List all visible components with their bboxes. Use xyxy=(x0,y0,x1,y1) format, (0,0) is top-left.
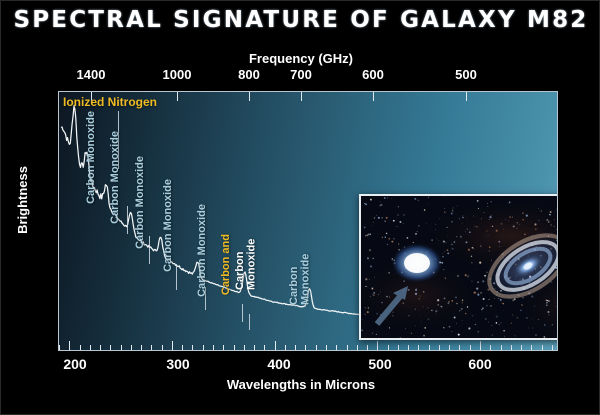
label-leader-line xyxy=(149,236,150,264)
wavelength-tick-200: 200 xyxy=(63,356,86,372)
plot-bottom-tick-major xyxy=(172,341,173,350)
plot-bottom-tick-minor xyxy=(182,345,183,350)
wavelength-tick-600: 600 xyxy=(468,356,491,372)
plot-bottom-tick-minor xyxy=(121,345,122,350)
spectral-line-label: Carbon Monoxide xyxy=(86,111,98,204)
plot-bottom-tick-minor xyxy=(552,345,553,350)
plot-bottom-tick-minor xyxy=(305,345,306,350)
plot-bottom-tick-major xyxy=(275,341,276,350)
plot-bottom-tick-minor xyxy=(59,345,60,350)
plot-bottom-tick-minor xyxy=(357,345,358,350)
spectral-line-label: Carbon Monoxide xyxy=(197,204,209,297)
wavelength-tick-300: 300 xyxy=(166,356,189,372)
label-leader-line xyxy=(176,264,177,290)
plot-bottom-tick-minor xyxy=(501,345,502,350)
plot-bottom-tick-minor xyxy=(459,345,460,350)
page-title: SPECTRAL SIGNATURE OF GALAXY M82 xyxy=(1,7,600,33)
plot-bottom-tick-minor xyxy=(316,345,317,350)
frequency-tick-1000: 1000 xyxy=(163,67,192,82)
plot-bottom-tick-minor xyxy=(295,345,296,350)
plot-top-tick xyxy=(177,92,178,101)
plot-bottom-tick-major xyxy=(480,341,481,350)
spectral-line-label: Carbon and xyxy=(221,234,233,295)
spectral-line-label: Carbon Monoxide xyxy=(289,261,313,305)
frequency-tick-700: 700 xyxy=(290,67,312,82)
plot-bottom-tick-minor xyxy=(418,345,419,350)
plot-bottom-tick-minor xyxy=(347,345,348,350)
plot-bottom-tick-minor xyxy=(192,345,193,350)
plot-bottom-tick-minor xyxy=(254,345,255,350)
plot-top-tick xyxy=(301,92,302,101)
wavelength-tick-500: 500 xyxy=(368,356,391,372)
frequency-axis-title: Frequency (GHz) xyxy=(1,51,600,66)
frequency-tick-500: 500 xyxy=(455,67,477,82)
plot-bottom-tick-minor xyxy=(326,345,327,350)
plot-bottom-tick-minor xyxy=(531,345,532,350)
plot-bottom-tick-minor xyxy=(131,345,132,350)
plot-bottom-tick-minor xyxy=(110,345,111,350)
plot-bottom-tick-minor xyxy=(521,345,522,350)
plot-bottom-tick-major xyxy=(69,341,70,350)
brightness-axis-title: Brightness xyxy=(15,166,30,234)
spectral-line-label: Carbon Monoxide xyxy=(235,246,259,290)
wavelength-tick-400: 400 xyxy=(267,356,290,372)
frequency-tick-1400: 1400 xyxy=(77,67,106,82)
plot-bottom-tick-minor xyxy=(336,345,337,350)
plot-top-tick xyxy=(466,92,467,101)
plot-bottom-tick-minor xyxy=(100,345,101,350)
plot-bottom-tick-minor xyxy=(223,345,224,350)
plot-bottom-tick-minor xyxy=(234,345,235,350)
plot-bottom-tick-minor xyxy=(367,345,368,350)
plot-bottom-tick-minor xyxy=(162,345,163,350)
label-leader-line xyxy=(127,206,128,234)
plot-bottom-tick-minor xyxy=(264,345,265,350)
plot-bottom-tick-minor xyxy=(408,345,409,350)
plot-bottom-tick-minor xyxy=(151,345,152,350)
figure-frame: SPECTRAL SIGNATURE OF GALAXY M82 Frequen… xyxy=(0,0,600,415)
plot-bottom-tick-minor xyxy=(398,345,399,350)
plot-bottom-tick-minor xyxy=(439,345,440,350)
plot-bottom-tick-major xyxy=(377,341,378,350)
plot-bottom-tick-minor xyxy=(470,345,471,350)
spectral-line-label: Ionized Nitrogen xyxy=(63,97,157,109)
spectral-line-label: Carbon Monoxide xyxy=(135,156,147,249)
plot-bottom-tick-minor xyxy=(449,345,450,350)
spectral-line-label: Carbon Monoxide xyxy=(110,131,122,224)
plot-top-tick xyxy=(249,92,250,101)
plot-bottom-tick-minor xyxy=(141,345,142,350)
plot-bottom-tick-minor xyxy=(80,345,81,350)
spectrum-plot-area: Ionized NitrogenCarbon MonoxideCarbon Mo… xyxy=(58,91,558,351)
plot-bottom-tick-minor xyxy=(388,345,389,350)
plot-bottom-tick-minor xyxy=(244,345,245,350)
label-leader-line xyxy=(242,304,243,322)
plot-bottom-tick-minor xyxy=(542,345,543,350)
frequency-tick-800: 800 xyxy=(238,67,260,82)
plot-bottom-tick-minor xyxy=(213,345,214,350)
spectral-line-label: Carbon Monoxide xyxy=(163,179,175,272)
plot-top-tick xyxy=(373,92,374,101)
plot-bottom-tick-minor xyxy=(285,345,286,350)
label-leader-line xyxy=(249,314,250,330)
plot-bottom-tick-minor xyxy=(511,345,512,350)
galaxy-inset-image xyxy=(359,194,558,340)
frequency-tick-600: 600 xyxy=(362,67,384,82)
plot-bottom-tick-minor xyxy=(490,345,491,350)
plot-bottom-tick-minor xyxy=(429,345,430,350)
wavelength-axis-title: Wavelengths in Microns xyxy=(1,377,600,392)
plot-bottom-tick-minor xyxy=(90,345,91,350)
plot-bottom-tick-minor xyxy=(203,345,204,350)
